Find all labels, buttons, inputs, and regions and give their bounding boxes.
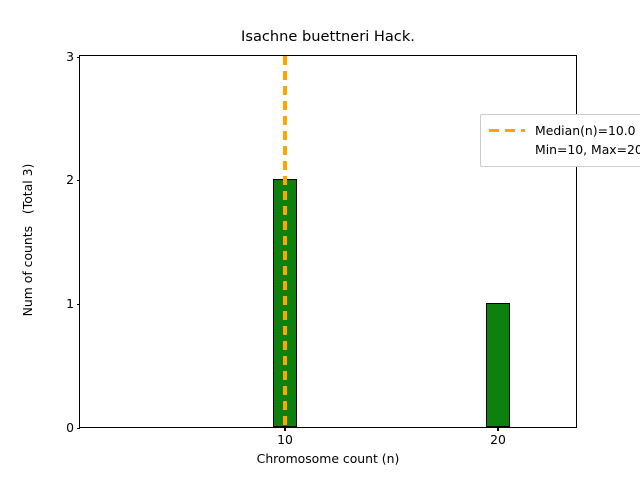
chart-legend: Median(n)=10.0 Min=10, Max=20 (480, 114, 640, 167)
ytick-mark (77, 428, 81, 429)
ytick-label: 0 (66, 421, 74, 433)
xtick-mark (497, 427, 498, 431)
ytick-label: 3 (66, 50, 74, 62)
chart-figure: Isachne buettneri Hack. 0 1 2 3 (0, 0, 640, 480)
legend-label: Median(n)=10.0 (535, 121, 636, 140)
legend-label: Min=10, Max=20 (535, 140, 640, 159)
ytick-mark (77, 57, 81, 58)
median-line (283, 56, 286, 427)
xtick-label: 10 (277, 433, 293, 446)
legend-entry-minmax: Min=10, Max=20 (489, 140, 640, 159)
blank-swatch-icon (489, 148, 525, 151)
dashed-line-swatch-icon (489, 129, 525, 132)
chart-title: Isachne buettneri Hack. (79, 28, 577, 46)
ytick-mark (77, 180, 81, 181)
xtick-mark (284, 427, 285, 431)
plot-inner (80, 56, 576, 427)
bar-chromosome-20[interactable] (486, 303, 510, 427)
ytick-label: 2 (66, 174, 74, 186)
y-axis-label: Num of counts (Total 3) (14, 0, 42, 480)
xtick-label: 20 (490, 433, 506, 446)
legend-entry-median: Median(n)=10.0 (489, 121, 640, 140)
ytick-label: 1 (66, 298, 74, 310)
x-axis-label: Chromosome count (n) (79, 452, 577, 466)
ytick-mark (77, 304, 81, 305)
plot-area: 0 1 2 3 10 20 Median(n)=10.0 (79, 55, 577, 428)
